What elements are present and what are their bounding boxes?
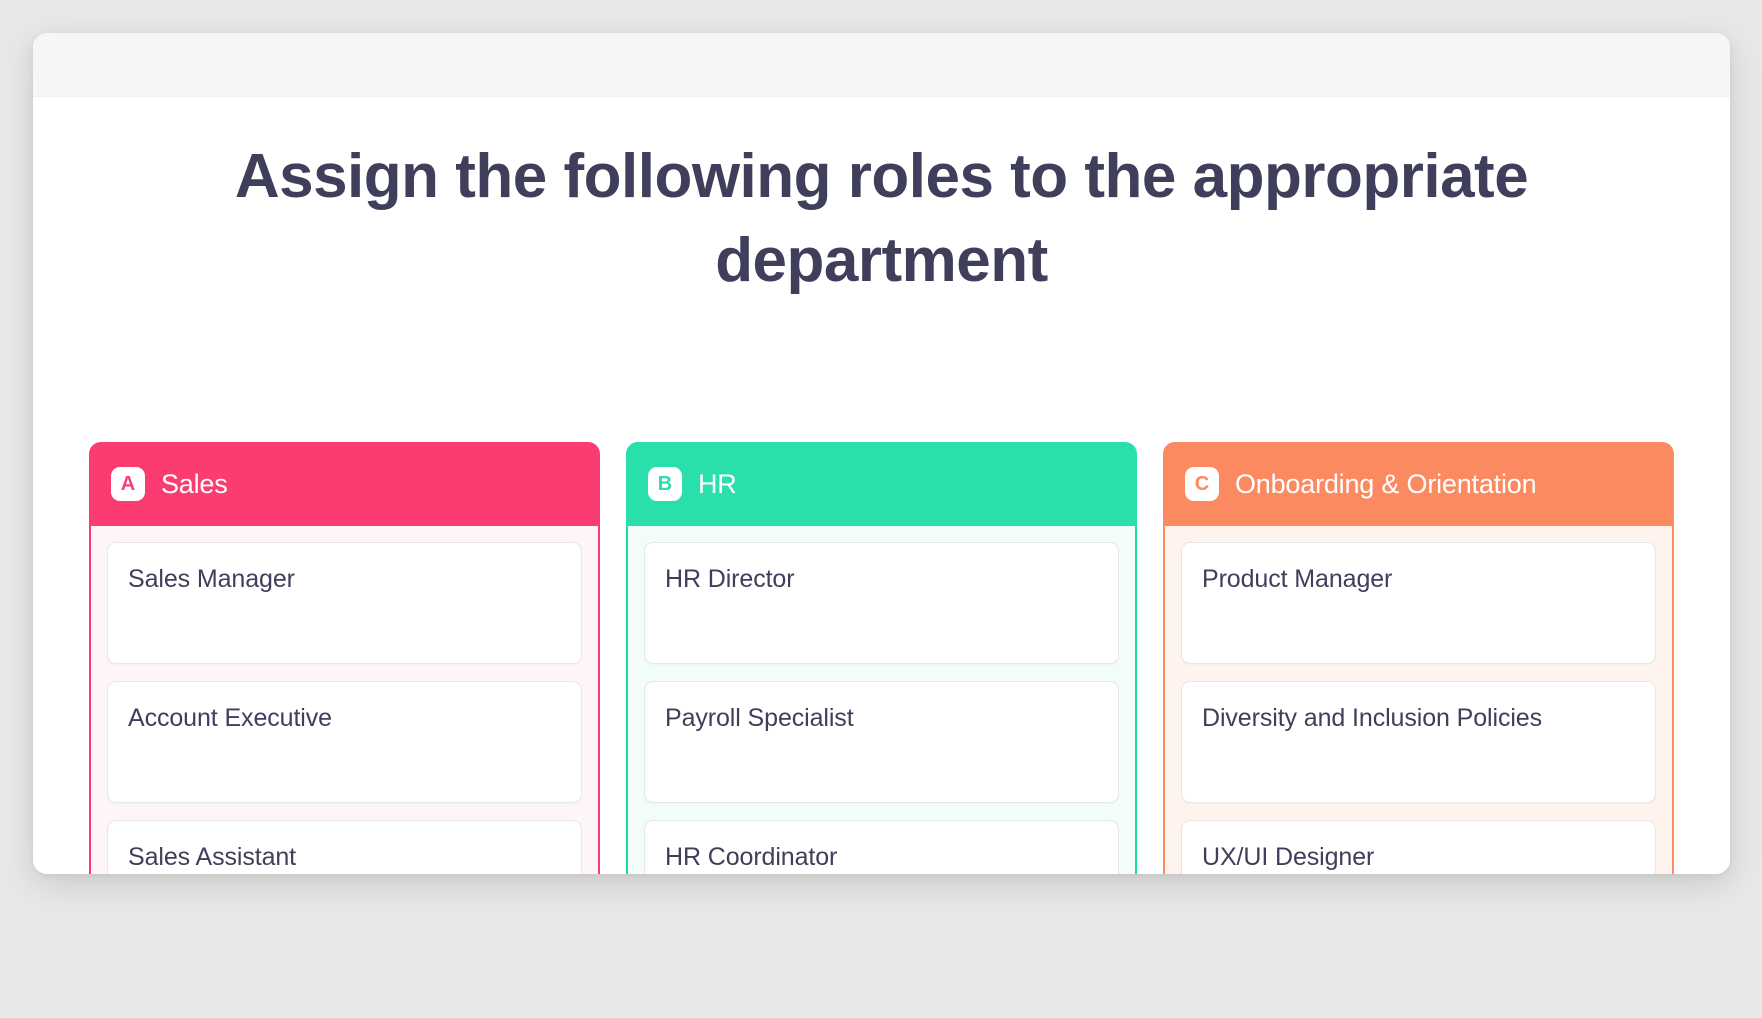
- column-badge-letter: B: [648, 467, 682, 501]
- column-dropzone-hr[interactable]: HR DirectorPayroll SpecialistHR Coordina…: [626, 526, 1137, 874]
- window-toolbar: [33, 33, 1730, 97]
- column-title: Sales: [161, 469, 228, 500]
- column-badge-letter: C: [1185, 467, 1219, 501]
- role-card[interactable]: Sales Manager: [107, 542, 582, 664]
- column-title: HR: [698, 469, 737, 500]
- column-list: ASalesSales ManagerAccount ExecutiveSale…: [89, 442, 1674, 874]
- page-title: Assign the following roles to the approp…: [89, 135, 1674, 304]
- role-card[interactable]: HR Director: [644, 542, 1119, 664]
- column-hr: BHRHR DirectorPayroll SpecialistHR Coord…: [626, 442, 1137, 874]
- role-card-label: Account Executive: [128, 704, 561, 733]
- role-card[interactable]: Account Executive: [107, 681, 582, 803]
- column-header-hr: BHR: [626, 442, 1137, 526]
- role-card[interactable]: Product Manager: [1181, 542, 1656, 664]
- role-card-label: UX/UI Designer: [1202, 843, 1635, 872]
- role-card-label: HR Director: [665, 565, 1098, 594]
- column-badge-letter: A: [111, 467, 145, 501]
- column-title: Onboarding & Orientation: [1235, 469, 1536, 500]
- window-content: Assign the following roles to the approp…: [33, 135, 1730, 874]
- role-card-label: Diversity and Inclusion Policies: [1202, 704, 1635, 733]
- role-card-label: Product Manager: [1202, 565, 1635, 594]
- role-card[interactable]: HR Coordinator: [644, 820, 1119, 874]
- role-card[interactable]: Payroll Specialist: [644, 681, 1119, 803]
- role-card[interactable]: UX/UI Designer: [1181, 820, 1656, 874]
- app-window: Assign the following roles to the approp…: [33, 33, 1730, 874]
- column-dropzone-onboarding-orientation[interactable]: Product ManagerDiversity and Inclusion P…: [1163, 526, 1674, 874]
- role-card-label: Sales Assistant: [128, 843, 561, 872]
- column-onboarding-orientation: COnboarding & OrientationProduct Manager…: [1163, 442, 1674, 874]
- column-dropzone-sales[interactable]: Sales ManagerAccount ExecutiveSales Assi…: [89, 526, 600, 874]
- column-header-onboarding-orientation: COnboarding & Orientation: [1163, 442, 1674, 526]
- role-card-label: HR Coordinator: [665, 843, 1098, 872]
- role-card[interactable]: Sales Assistant: [107, 820, 582, 874]
- role-card-label: Payroll Specialist: [665, 704, 1098, 733]
- role-card[interactable]: Diversity and Inclusion Policies: [1181, 681, 1656, 803]
- column-header-sales: ASales: [89, 442, 600, 526]
- column-sales: ASalesSales ManagerAccount ExecutiveSale…: [89, 442, 600, 874]
- role-card-label: Sales Manager: [128, 565, 561, 594]
